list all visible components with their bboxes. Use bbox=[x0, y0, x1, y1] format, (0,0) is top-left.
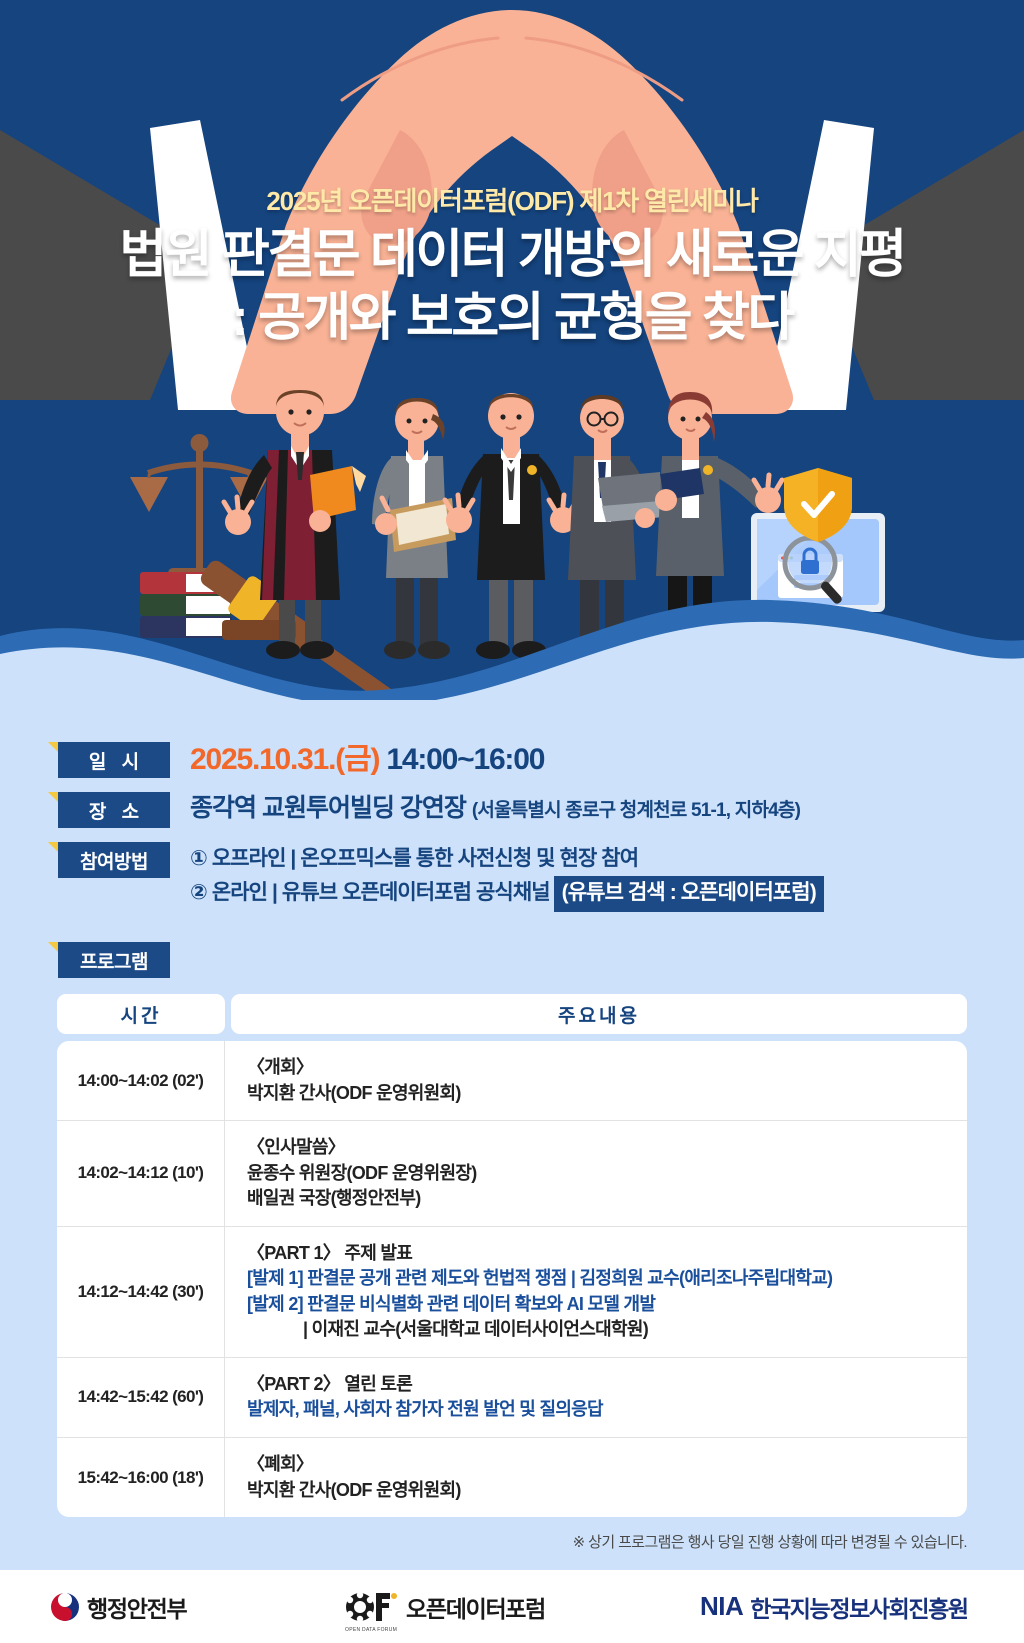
event-title-line-2: : 공개와 보호의 균형을 찾다 bbox=[0, 288, 1024, 348]
program-table-body: 14:00~14:02 (02') 〈개회〉 박지환 간사(ODF 운영위원회)… bbox=[57, 1041, 967, 1517]
venue-address: (서울특별시 종로구 청계천로 51-1, 지하4층) bbox=[472, 800, 800, 821]
content-line: 〈인사말씀〉 bbox=[247, 1135, 967, 1161]
odf-sublabel: OPEN DATA FORUM bbox=[345, 1627, 397, 1633]
content-line: 〈개회〉 bbox=[247, 1055, 967, 1081]
content-line: 〈PART 2〉 열린 토론 bbox=[247, 1372, 967, 1398]
info-row-place: 장 소 종각역 교원투어빌딩 강연장 (서울특별시 종로구 청계천로 51-1,… bbox=[0, 792, 1024, 828]
row-time: 14:02~14:12 (10') bbox=[57, 1121, 225, 1226]
program-note: ※ 상기 프로그램은 행사 당일 진행 상황에 따라 변경될 수 있습니다. bbox=[57, 1531, 967, 1552]
place-value: 종각역 교원투어빌딩 강연장 (서울특별시 종로구 청계천로 51-1, 지하4… bbox=[190, 792, 800, 823]
logo-open-data-forum: OPEN DATA FORUM 오픈데이터포럼 bbox=[345, 1590, 545, 1624]
nia-mark-label: NIA bbox=[700, 1591, 743, 1622]
content-line: | 이재진 교수(서울대학교 데이터사이언스대학원) bbox=[247, 1317, 967, 1343]
time-text: 14:00~16:00 bbox=[386, 743, 544, 776]
info-row-join: 참여방법 ① 오프라인 | 온오프믹스를 통한 사전신청 및 현장 참여 ② 온… bbox=[0, 842, 1024, 912]
content-line: 박지환 간사(ODF 운영위원회) bbox=[247, 1478, 967, 1504]
program-table: 시간 주요내용 14:00~14:02 (02') 〈개회〉 박지환 간사(OD… bbox=[57, 994, 967, 1517]
row-time: 15:42~16:00 (18') bbox=[57, 1438, 225, 1517]
date-label-badge: 일 시 bbox=[58, 742, 170, 778]
logo-nia: NIA 한국지능정보사회진흥원 bbox=[700, 1590, 968, 1624]
join-label-badge: 참여방법 bbox=[58, 842, 170, 878]
logo-ministry-of-interior: 행정안전부 bbox=[50, 1590, 186, 1624]
row-content: 〈PART 1〉 주제 발표 [발제 1] 판결문 공개 관련 제도와 헌법적 … bbox=[225, 1227, 967, 1357]
row-time: 14:00~14:02 (02') bbox=[57, 1041, 225, 1120]
odf-emblem-icon bbox=[345, 1590, 399, 1624]
row-time: 14:42~15:42 (60') bbox=[57, 1358, 225, 1437]
table-row: 14:02~14:12 (10') 〈인사말씀〉 윤종수 위원장(ODF 운영위… bbox=[57, 1121, 967, 1227]
content-line: 박지환 간사(ODF 운영위원회) bbox=[247, 1081, 967, 1107]
event-info-section: 일 시 2025.10.31.(금) 14:00~16:00 장 소 종각역 교… bbox=[0, 742, 1024, 926]
content-line: 〈PART 1〉 주제 발표 bbox=[247, 1241, 967, 1267]
hero-banner: 2025년 오픈데이터포럼(ODF) 제1차 열린세미나 법원 판결문 데이터 … bbox=[0, 0, 1024, 700]
join-option-offline: ① 오프라인 | 온오프믹스를 통한 사전신청 및 현장 참여 bbox=[190, 843, 824, 876]
row-content: 〈폐회〉 박지환 간사(ODF 운영위원회) bbox=[225, 1438, 967, 1517]
moi-label: 행정안전부 bbox=[87, 1590, 186, 1624]
venue-text: 종각역 교원투어빌딩 강연장 bbox=[190, 794, 466, 822]
info-row-date: 일 시 2025.10.31.(금) 14:00~16:00 bbox=[0, 742, 1024, 778]
date-value: 2025.10.31.(금) 14:00~16:00 bbox=[190, 742, 544, 778]
footer-logos: 행정안전부 OPEN DATA FORUM 오픈데이터포럼 NIA 한국지능정보… bbox=[0, 1570, 1024, 1643]
content-line: [발제 1] 판결문 공개 관련 제도와 헌법적 쟁점 | 김정희원 교수(애리… bbox=[247, 1266, 967, 1292]
table-row: 14:00~14:02 (02') 〈개회〉 박지환 간사(ODF 운영위원회) bbox=[57, 1041, 967, 1121]
content-line: 윤종수 위원장(ODF 운영위원장) bbox=[247, 1161, 967, 1187]
hero-illustration bbox=[0, 0, 1024, 700]
event-title-line-1: 법원 판결문 데이터 개방의 새로운 지평 bbox=[0, 225, 1024, 285]
column-header-time: 시간 bbox=[57, 994, 225, 1034]
row-content: 〈PART 2〉 열린 토론 발제자, 패널, 사회자 참가자 전원 발언 및 … bbox=[225, 1358, 967, 1437]
table-row: 14:42~15:42 (60') 〈PART 2〉 열린 토론 발제자, 패널… bbox=[57, 1358, 967, 1438]
join-value: ① 오프라인 | 온오프믹스를 통한 사전신청 및 현장 참여 ② 온라인 | … bbox=[190, 842, 824, 912]
date-text: 2025.10.31.(금) bbox=[190, 743, 379, 776]
program-table-header: 시간 주요내용 bbox=[57, 994, 967, 1034]
content-line: 〈폐회〉 bbox=[247, 1452, 967, 1478]
program-section: 프로그램 시간 주요내용 14:00~14:02 (02') 〈개회〉 박지환 … bbox=[0, 942, 1024, 1552]
row-content: 〈인사말씀〉 윤종수 위원장(ODF 운영위원장) 배일권 국장(행정안전부) bbox=[225, 1121, 967, 1226]
youtube-search-chip: (유튜브 검색 : 오픈데이터포럼) bbox=[554, 876, 824, 913]
taegeuk-icon bbox=[50, 1592, 80, 1622]
odf-label: 오픈데이터포럼 bbox=[406, 1590, 545, 1624]
join-option-online: ② 온라인 | 유튜브 오픈데이터포럼 공식채널 bbox=[190, 881, 550, 904]
program-label-badge: 프로그램 bbox=[58, 942, 170, 978]
odf-mark: OPEN DATA FORUM bbox=[345, 1590, 399, 1624]
content-line: [발제 2] 판결문 비식별화 관련 데이터 확보와 AI 모델 개발 bbox=[247, 1292, 967, 1318]
event-kicker: 2025년 오픈데이터포럼(ODF) 제1차 열린세미나 bbox=[0, 186, 1024, 217]
table-row: 14:12~14:42 (30') 〈PART 1〉 주제 발표 [발제 1] … bbox=[57, 1227, 967, 1358]
column-header-content: 주요내용 bbox=[231, 994, 967, 1034]
hero-text-block: 2025년 오픈데이터포럼(ODF) 제1차 열린세미나 법원 판결문 데이터 … bbox=[0, 186, 1024, 348]
table-row: 15:42~16:00 (18') 〈폐회〉 박지환 간사(ODF 운영위원회) bbox=[57, 1438, 967, 1517]
content-line: 발제자, 패널, 사회자 참가자 전원 발언 및 질의응답 bbox=[247, 1397, 967, 1423]
row-content: 〈개회〉 박지환 간사(ODF 운영위원회) bbox=[225, 1041, 967, 1120]
row-time: 14:12~14:42 (30') bbox=[57, 1227, 225, 1357]
place-label-badge: 장 소 bbox=[58, 792, 170, 828]
content-line: 배일권 국장(행정안전부) bbox=[247, 1186, 967, 1212]
nia-label: 한국지능정보사회진흥원 bbox=[750, 1590, 967, 1624]
